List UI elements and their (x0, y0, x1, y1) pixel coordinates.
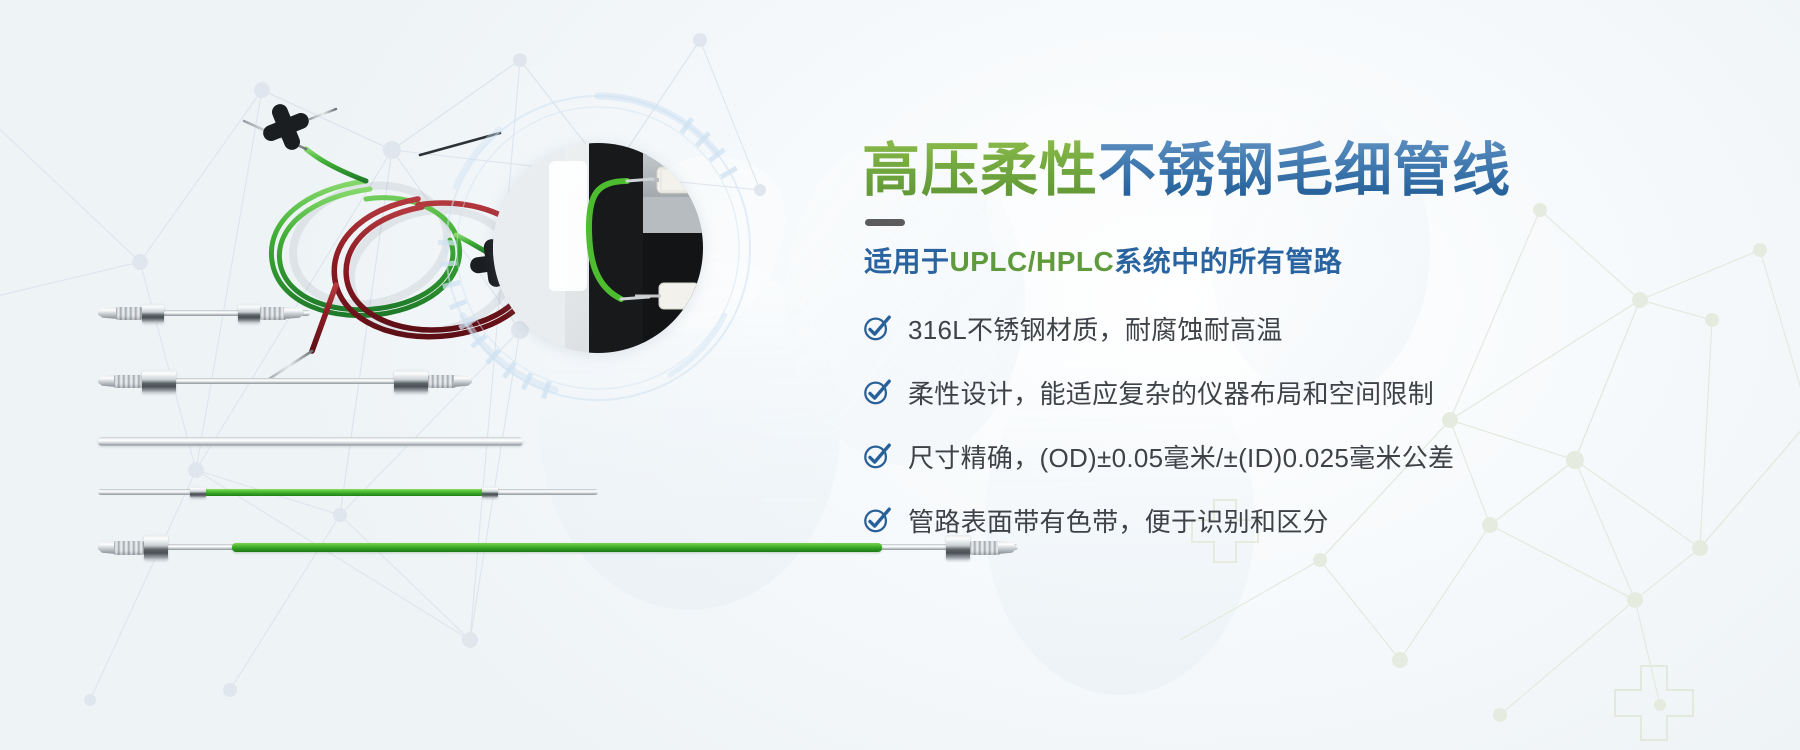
subtitle: 适用于UPLC/HPLC系统中的所有管路 (864, 240, 1742, 280)
check-circle-icon (862, 441, 892, 471)
list-item: 管路表面带有色带，便于识别和区分 (862, 502, 1742, 539)
feature-text: 柔性设计，能适应复杂的仪器布局和空间限制 (908, 374, 1434, 411)
product-row-green-banded-tube (98, 487, 598, 499)
feature-text: 尺寸精确，(OD)±0.05毫米/±(ID)0.025毫米公差 (908, 438, 1454, 475)
title-divider (865, 219, 905, 226)
product-row-short-steel-tube (98, 302, 310, 324)
check-circle-icon (862, 313, 892, 343)
check-circle-icon (862, 505, 892, 535)
subtitle-highlight: UPLC/HPLC (950, 246, 1115, 277)
subtitle-tail: 系统中的所有管路 (1114, 246, 1342, 277)
check-circle-icon (862, 377, 892, 407)
title-green-segment: 高压柔性 (862, 138, 1098, 203)
product-row-bare-steel-tube (98, 437, 523, 449)
subtitle-lead: 适用于 (864, 246, 950, 277)
feature-text: 316L不锈钢材质，耐腐蚀耐高温 (908, 310, 1283, 347)
banner-content: 高压柔性不锈钢毛细管线 适用于UPLC/HPLC系统中的所有管路 316L不锈钢… (862, 140, 1742, 566)
list-item: 尺寸精确，(OD)±0.05毫米/±(ID)0.025毫米公差 (862, 438, 1742, 475)
title-blue-segment: 不锈钢毛细管线 (1098, 138, 1511, 203)
page-title: 高压柔性不锈钢毛细管线 (862, 140, 1742, 203)
instrument-closeup-photo (493, 143, 703, 353)
list-item: 柔性设计，能适应复杂的仪器布局和空间限制 (862, 374, 1742, 411)
list-item: 316L不锈钢材质，耐腐蚀耐高温 (862, 310, 1742, 347)
feature-text: 管路表面带有色带，便于识别和区分 (908, 502, 1329, 539)
product-banner: 高压柔性不锈钢毛细管线 适用于UPLC/HPLC系统中的所有管路 316L不锈钢… (0, 0, 1800, 750)
feature-list: 316L不锈钢材质，耐腐蚀耐高温 柔性设计，能适应复杂的仪器布局和空间限制 尺寸… (862, 310, 1742, 539)
product-row-medium-steel-tube (98, 368, 472, 394)
white-fitting-top (651, 167, 697, 193)
hero-circle-inset (443, 93, 753, 403)
